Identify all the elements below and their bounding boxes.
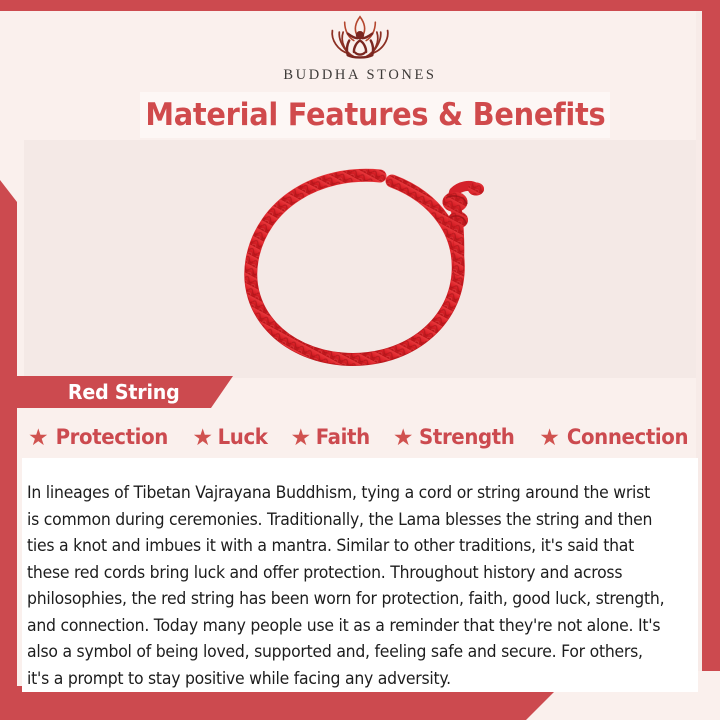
star-icon: ★: [393, 426, 414, 449]
benefits-row: ★ Protection ★ Luck ★ Faith ★ Strength ★…: [28, 420, 692, 454]
benefit-strength: ★ Strength: [393, 425, 518, 449]
star-icon: ★: [539, 426, 560, 449]
brand-logo: BUDDHA STONES: [0, 12, 720, 90]
page-title: Material Features & Benefits: [145, 97, 605, 133]
brand-name: BUDDHA STONES: [283, 67, 436, 84]
top-border-bar: [0, 0, 720, 11]
description-block: In lineages of Tibetan Vajrayana Buddhis…: [22, 458, 698, 692]
infographic-poster: BUDDHA STONES Material Features & Benefi…: [0, 0, 720, 720]
benefit-faith: ★ Faith: [290, 425, 371, 449]
benefit-label: Faith: [316, 425, 370, 449]
lotus-meditation-icon: [314, 12, 406, 66]
left-border-band: [0, 180, 17, 720]
benefit-protection: ★ Protection: [28, 425, 171, 449]
benefit-label: Connection: [567, 425, 688, 449]
title-banner: Material Features & Benefits: [140, 92, 610, 138]
star-icon: ★: [290, 426, 311, 449]
benefit-label: Luck: [218, 425, 268, 449]
star-icon: ★: [28, 426, 49, 449]
red-braided-string-bracelet-icon: [222, 148, 498, 374]
product-image-area: [24, 140, 696, 378]
product-label-banner: Red String: [17, 376, 233, 408]
star-icon: ★: [192, 426, 213, 449]
benefit-luck: ★ Luck: [192, 425, 269, 449]
benefit-connection: ★ Connection: [539, 425, 692, 449]
product-label: Red String: [68, 380, 180, 404]
benefit-label: Strength: [420, 425, 515, 449]
right-border-band: [702, 11, 720, 671]
description-text: In lineages of Tibetan Vajrayana Buddhis…: [27, 480, 665, 692]
benefit-label: Protection: [55, 425, 167, 449]
